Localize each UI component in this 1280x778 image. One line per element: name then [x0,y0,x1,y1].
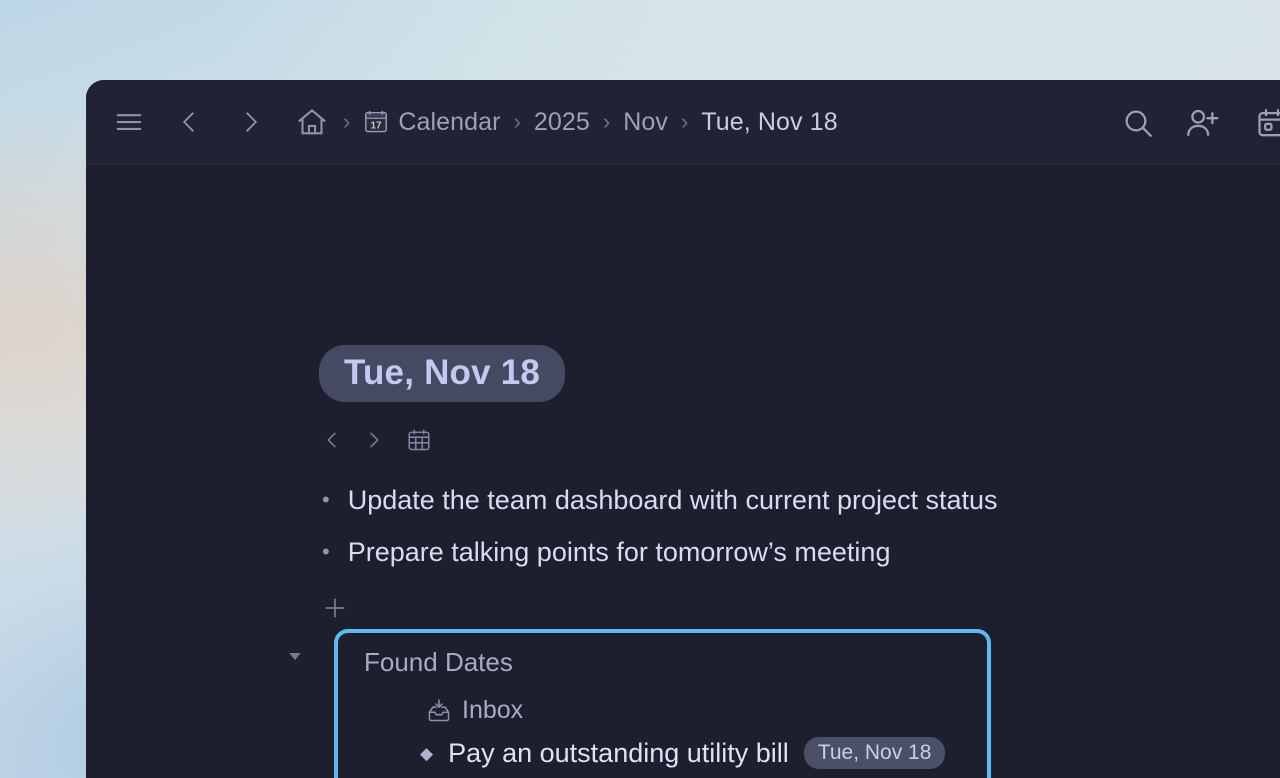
day-nav-row [322,427,432,453]
header-actions [1118,80,1280,165]
day-next-icon[interactable] [364,427,384,453]
day-view-body: Tue, Nov 18 [86,165,1280,778]
bullet-icon: • [322,489,330,511]
app-window: › 17 Calendar › 2025 › Nov › Tue, Nov 18 [86,80,1280,778]
triangle-down-icon[interactable] [286,647,304,665]
task-list: • Update the team dashboard with current… [322,485,1202,589]
page-title[interactable]: Tue, Nov 18 [319,345,565,402]
list-item[interactable]: ◆ Pay an outstanding utility bill Tue, N… [420,737,987,769]
breadcrumb-separator: › [603,111,610,133]
task-text: Prepare talking points for tomorrow’s me… [348,537,891,568]
calendar-grid-icon[interactable] [406,427,432,453]
day-prev-icon[interactable] [322,427,342,453]
header-bar: › 17 Calendar › 2025 › Nov › Tue, Nov 18 [86,80,1280,165]
add-person-icon[interactable] [1182,103,1224,143]
diamond-bullet-icon: ◆ [420,745,433,762]
list-item[interactable]: • Prepare talking points for tomorrow’s … [322,537,1202,568]
found-dates-group[interactable]: Found Dates Inbox ◆ Pay an outstanding u… [334,629,991,778]
inbox-icon [426,698,452,724]
task-text: Pay an outstanding utility bill [448,738,789,769]
breadcrumb-item-nov[interactable]: Nov [623,108,668,137]
found-dates-source-inbox[interactable]: Inbox [426,696,987,725]
breadcrumb-item-current-day[interactable]: Tue, Nov 18 [701,108,837,137]
breadcrumb-item-2025[interactable]: 2025 [534,108,590,137]
svg-text:17: 17 [371,120,383,131]
calendar-icon[interactable] [1252,103,1280,143]
breadcrumb-item-calendar[interactable]: 17 Calendar [363,108,500,137]
bullet-icon: • [322,541,330,563]
nav-back-icon[interactable] [176,105,202,139]
search-icon[interactable] [1118,103,1158,143]
breadcrumb-label-calendar: Calendar [398,108,500,137]
breadcrumb-separator: › [514,111,521,133]
calendar-emoji-icon: 17 [363,109,389,135]
breadcrumb-separator: › [681,111,688,133]
inbox-label: Inbox [462,696,523,725]
nav-forward-icon[interactable] [238,105,264,139]
plus-icon[interactable] [322,595,348,621]
found-dates-title: Found Dates [364,647,987,678]
list-item[interactable]: • Update the team dashboard with current… [322,485,1202,516]
home-icon[interactable] [294,104,330,140]
status-badge[interactable]: Tue, Nov 18 [804,737,946,769]
task-text: Update the team dashboard with current p… [348,485,998,516]
hamburger-menu-icon[interactable] [112,105,146,139]
breadcrumb-separator: › [343,111,350,133]
